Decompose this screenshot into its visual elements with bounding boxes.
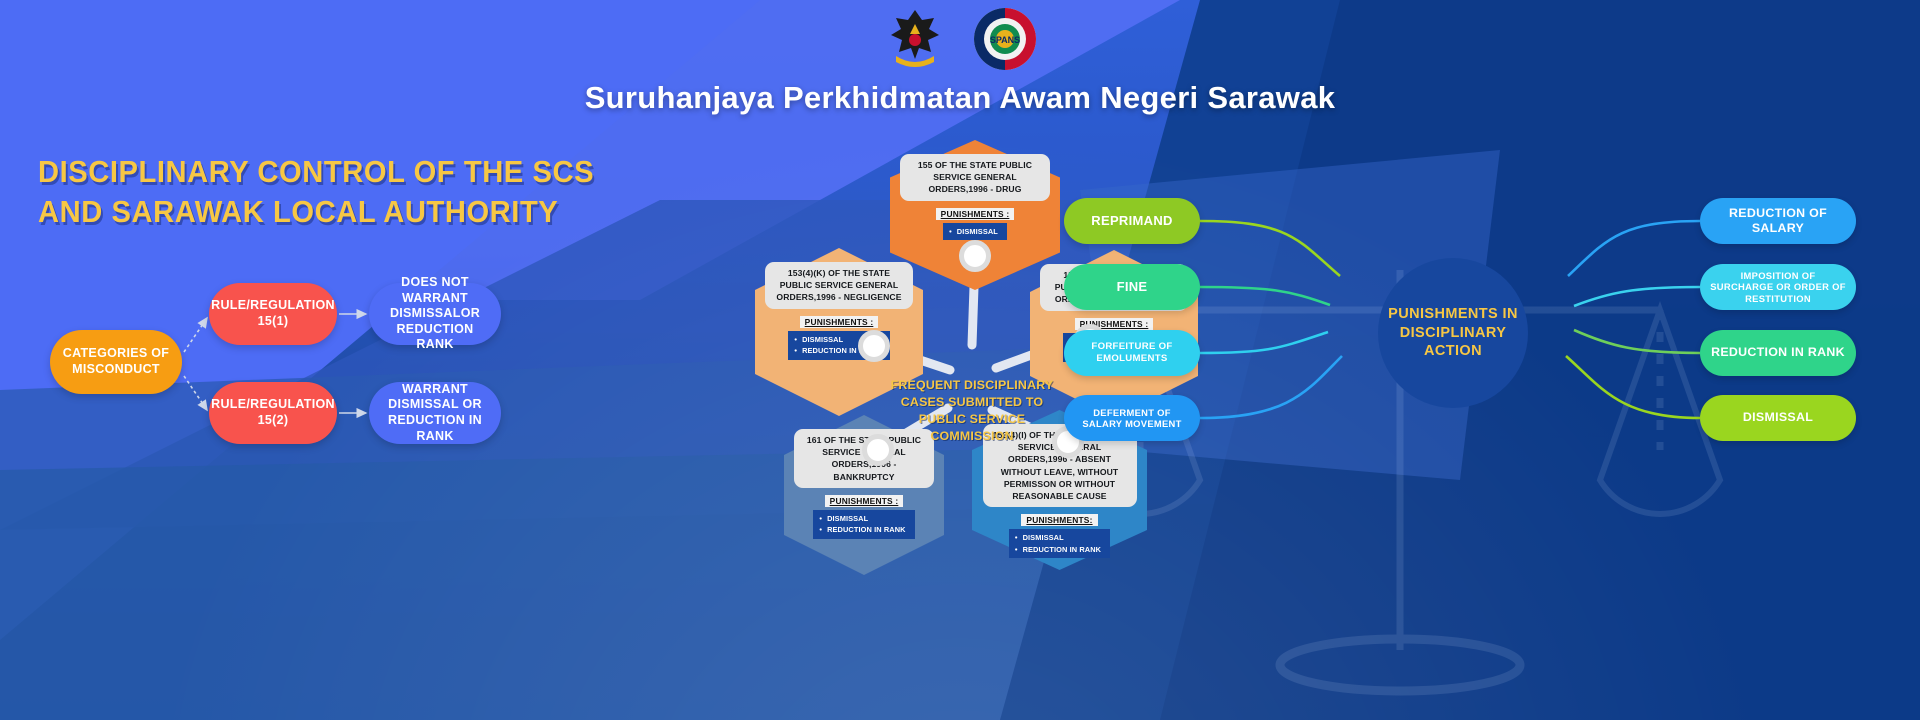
site-title: Suruhanjaya Perkhidmatan Awam Negeri Sar… — [585, 80, 1336, 116]
hex-punishments-bankruptcy: DISMISSAL REDUCTION IN RANK — [813, 510, 914, 539]
hex-punishments-label-absent: PUNISHMENTS: — [1021, 514, 1097, 526]
spoke-node-top — [959, 240, 991, 272]
flow-node-rule-15-1[interactable]: RULE/REGULATION 15(1) — [209, 283, 337, 345]
punishment-item: DISMISSAL — [819, 513, 905, 524]
page-title: DISCIPLINARY CONTROL OF THE SCS AND SARA… — [38, 152, 640, 231]
spoke-node-left — [858, 330, 890, 362]
cluster-center-label: FREQUENT DISCIPLINARY CASES SUBMITTED TO… — [882, 377, 1062, 444]
punishment-chip-surcharge-restitution[interactable]: IMPOSITION OF SURCHARGE OR ORDER OF REST… — [1700, 264, 1856, 310]
page-title-line-1: DISCIPLINARY CONTROL OF THE SCS — [38, 152, 640, 192]
mindmap-hub: PUNISHMENTS IN DISCIPLINARY ACTION — [1378, 258, 1528, 408]
punishment-chip-forfeiture-emoluments[interactable]: FORFEITURE OF EMOLUMENTS — [1064, 330, 1200, 376]
punishment-chip-reduction-of-salary[interactable]: REDUCTION OF SALARY — [1700, 198, 1856, 244]
flow-node-outcome-15-1[interactable]: DOES NOT WARRANT DISMISSALOR REDUCTION R… — [369, 283, 501, 345]
punishment-item: DISMISSAL — [949, 226, 998, 237]
crest-row: SPANS — [882, 6, 1038, 72]
punishment-item: DISMISSAL — [1015, 532, 1101, 543]
page-title-line-2: AND SARAWAK LOCAL AUTHORITY — [38, 192, 640, 232]
hex-title-negligence: 153(4)(K) OF THE STATE PUBLIC SERVICE GE… — [765, 262, 913, 309]
punishment-chip-reprimand[interactable]: REPRIMAND — [1064, 198, 1200, 244]
hex-title-drug: 155 OF THE STATE PUBLIC SERVICE GENERAL … — [900, 154, 1050, 201]
spans-logo-text: SPANS — [990, 35, 1020, 45]
infographic-canvas: SPANS Suruhanjaya Perkhidmatan Awam Nege… — [0, 0, 1920, 720]
hex-punishments-absent: DISMISSAL REDUCTION IN RANK — [1009, 529, 1110, 558]
punishment-item: REDUCTION IN RANK — [1015, 544, 1101, 555]
misconduct-flowchart: CATEGORIES OF MISCONDUCT RULE/REGULATION… — [0, 280, 560, 480]
flow-node-rule-15-2[interactable]: RULE/REGULATION 15(2) — [209, 382, 337, 444]
punishment-chip-dismissal[interactable]: DISMISSAL — [1700, 395, 1856, 441]
flow-node-categories[interactable]: CATEGORIES OF MISCONDUCT — [50, 330, 182, 394]
hex-punishments-label-bankruptcy: PUNISHMENTS : — [825, 495, 904, 507]
flow-node-outcome-15-2[interactable]: WARRANT DISMISSAL OR REDUCTION IN RANK — [369, 382, 501, 444]
page-header: SPANS Suruhanjaya Perkhidmatan Awam Nege… — [0, 0, 1920, 130]
punishment-chip-fine[interactable]: FINE — [1064, 264, 1200, 310]
punishments-mindmap: PUNISHMENTS IN DISCIPLINARY ACTION REPRI… — [1040, 180, 1920, 480]
hex-punishments-label-negligence: PUNISHMENTS : — [800, 316, 879, 328]
punishment-chip-reduction-in-rank[interactable]: REDUCTION IN RANK — [1700, 330, 1856, 376]
spans-logo-icon: SPANS — [972, 6, 1038, 72]
punishment-item: REDUCTION IN RANK — [819, 524, 905, 535]
punishment-chip-deferment-salary[interactable]: DEFERMENT OF SALARY MOVEMENT — [1064, 395, 1200, 441]
hex-punishments-drug: DISMISSAL — [943, 223, 1007, 240]
hex-punishments-label-drug: PUNISHMENTS : — [936, 208, 1015, 220]
sarawak-state-crest-icon — [882, 6, 948, 72]
